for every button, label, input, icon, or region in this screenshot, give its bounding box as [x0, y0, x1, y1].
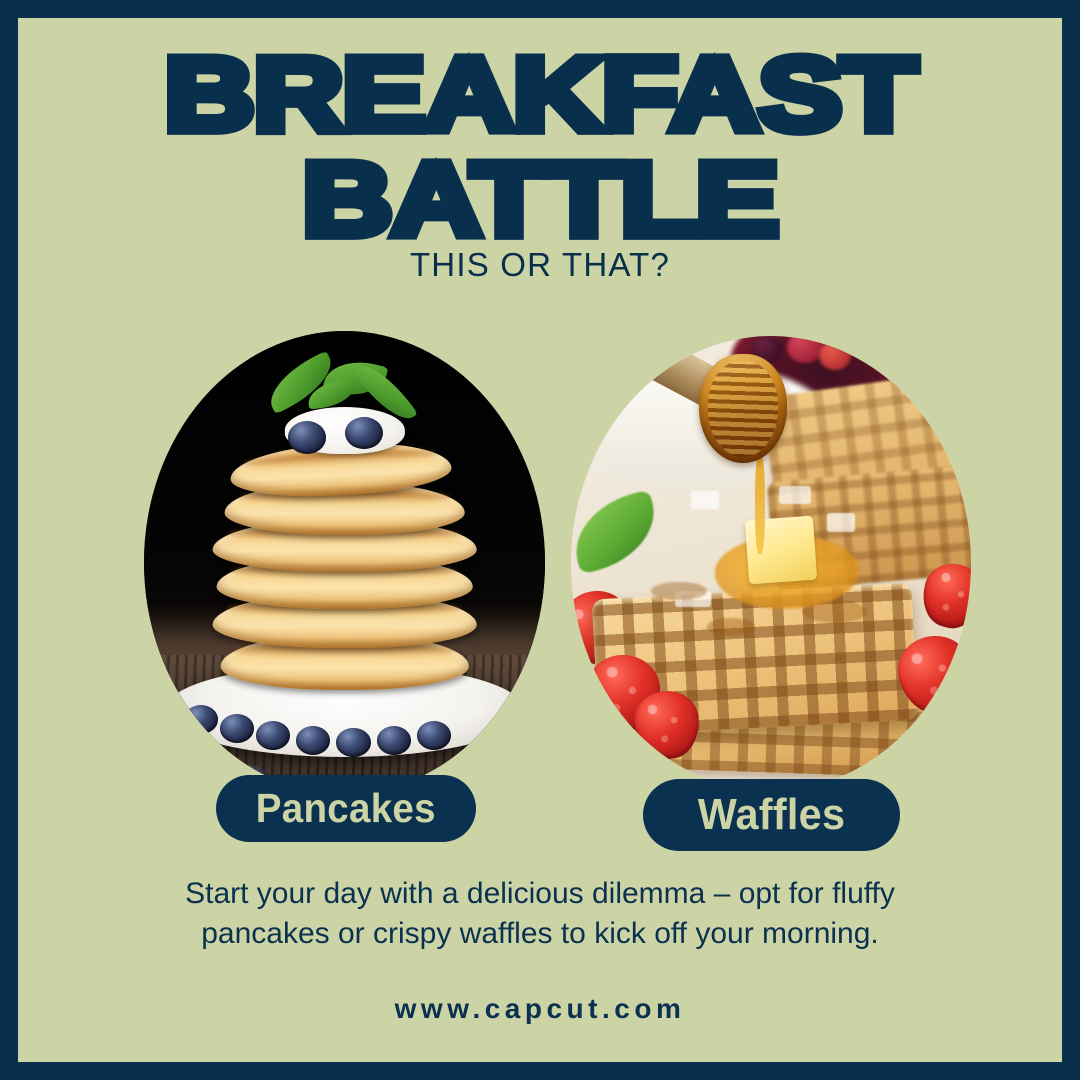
berry-icon	[819, 341, 851, 371]
waffles-image	[571, 336, 971, 791]
badge-pancakes-label: Pancakes	[256, 785, 436, 832]
glaze-highlight	[779, 486, 811, 504]
body-text: Start your day with a delicious dilemma …	[140, 874, 940, 954]
badge-waffles-label: Waffles	[698, 790, 846, 840]
blueberry-icon	[417, 721, 451, 750]
subtitle: THIS OR THAT?	[18, 246, 1062, 284]
glaze-highlight	[827, 513, 855, 531]
blueberry-icon	[377, 726, 411, 755]
blueberry-icon	[288, 421, 326, 453]
syrup-pool	[651, 582, 707, 600]
pancakes-image	[144, 331, 545, 794]
poster-canvas: BREAKFAST BATTLE THIS OR THAT?	[18, 18, 1062, 1062]
waffles-scene	[571, 336, 971, 791]
blueberry-icon	[296, 726, 330, 755]
blueberry-icon	[336, 728, 370, 757]
honey-dipper-icon	[699, 354, 787, 463]
mint-garnish	[252, 363, 436, 423]
blueberry-icon	[184, 705, 218, 734]
glaze-highlight	[691, 491, 719, 509]
title-line-1: BREAKFAST	[18, 52, 1062, 139]
title-line-2: BATTLE	[18, 157, 1062, 244]
poster-frame: BREAKFAST BATTLE THIS OR THAT?	[0, 0, 1080, 1080]
badge-pancakes[interactable]: Pancakes	[216, 775, 476, 842]
badge-waffles[interactable]: Waffles	[643, 779, 900, 851]
title-block: BREAKFAST BATTLE	[18, 52, 1062, 237]
website-url: www.capcut.com	[18, 993, 1062, 1025]
honey-drip	[755, 454, 765, 554]
pancakes-scene	[144, 331, 545, 794]
